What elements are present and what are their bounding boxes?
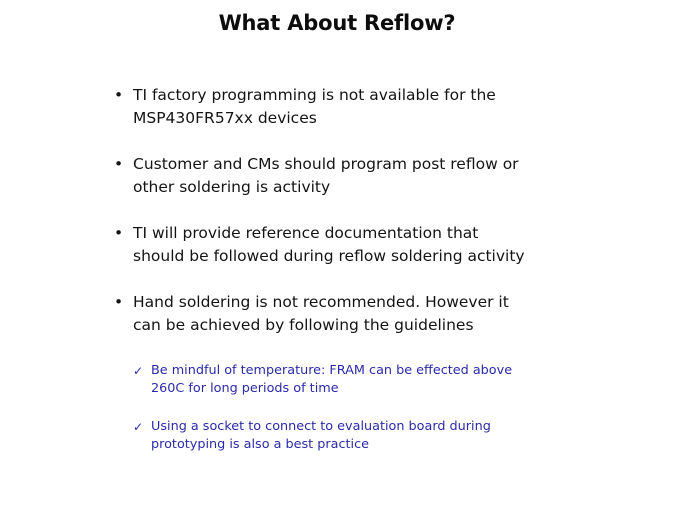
checkmark-icon: ✓ (133, 362, 143, 380)
sub-bullet-text: Be mindful of temperature: FRAM can be e… (151, 362, 610, 398)
sub-bullet-list: ✓ Be mindful of temperature: FRAM can be… (110, 362, 610, 454)
bullet-dot-icon: • (114, 84, 128, 107)
bullet-item: • TI factory programming is not availabl… (110, 84, 610, 129)
slide-canvas: What About Reflow? • TI factory programm… (0, 0, 674, 506)
bullet-item: • Customer and CMs should program post r… (110, 153, 610, 198)
bullet-text: TI will provide reference documentation … (133, 222, 610, 267)
page-title: What About Reflow? (0, 10, 674, 36)
bullet-dot-icon: • (114, 153, 128, 176)
bullet-text: Customer and CMs should program post ref… (133, 153, 610, 198)
sub-bullet-item: ✓ Using a socket to connect to evaluatio… (133, 418, 610, 454)
bullet-text: TI factory programming is not available … (133, 84, 610, 129)
bullet-item: • TI will provide reference documentatio… (110, 222, 610, 267)
slide-body: • TI factory programming is not availabl… (110, 84, 610, 454)
bullet-dot-icon: • (114, 222, 128, 245)
checkmark-icon: ✓ (133, 418, 143, 436)
bullet-dot-icon: • (114, 291, 128, 314)
sub-bullet-text: Using a socket to connect to evaluation … (151, 418, 610, 454)
sub-bullet-item: ✓ Be mindful of temperature: FRAM can be… (133, 362, 610, 398)
bullet-item: • Hand soldering is not recommended. How… (110, 291, 610, 336)
bullet-text: Hand soldering is not recommended. Howev… (133, 291, 610, 336)
